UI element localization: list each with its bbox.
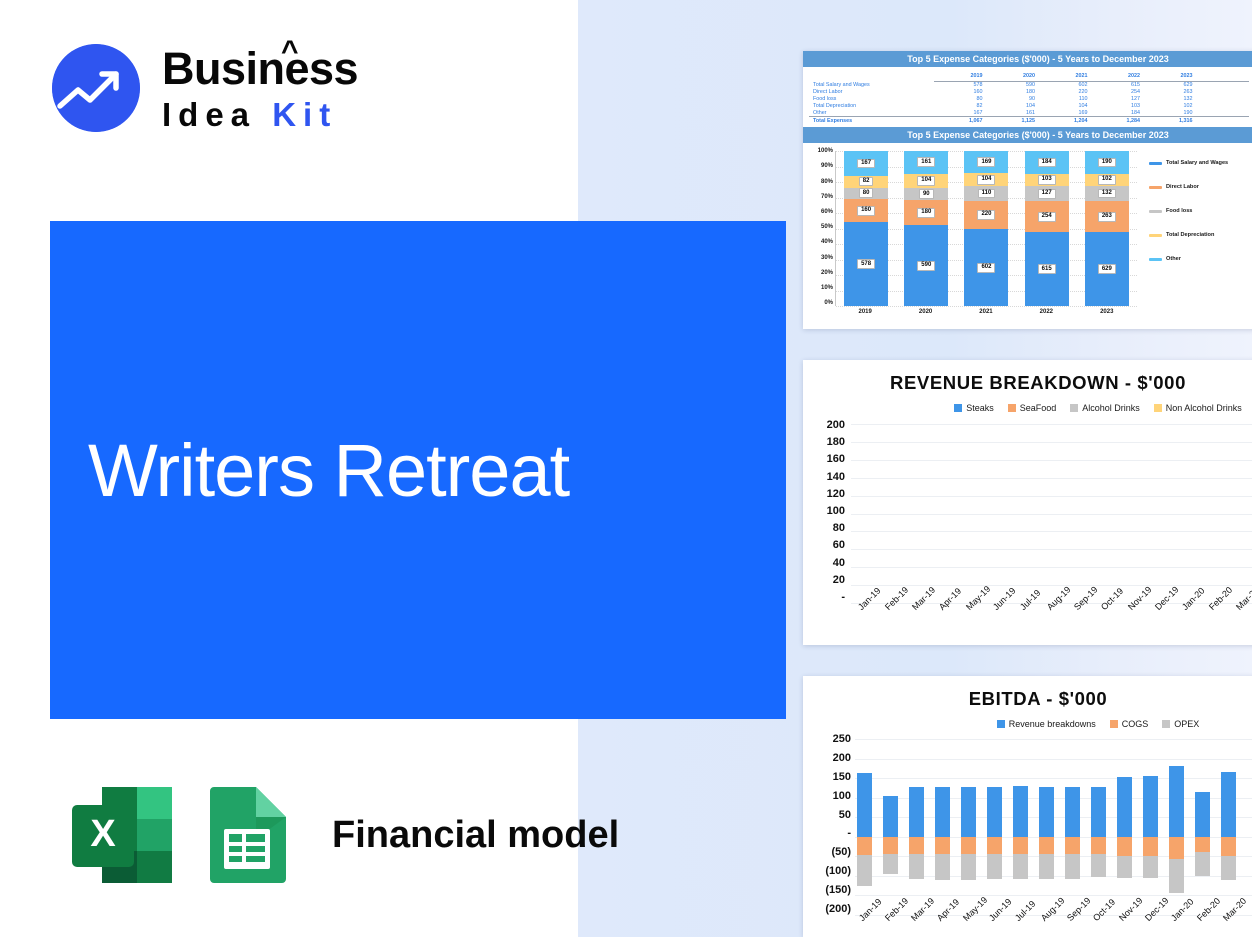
expense-x-tick: 2023 [1085,309,1129,315]
expense-cell: 160 [934,89,987,96]
brand-name-line1: Business ^ [162,46,358,91]
expense-table-row: Food loss8090110127132 [809,96,1249,103]
ebitda-legend-item: OPEX [1162,719,1199,729]
expense-table-header-row: 20192020202120222023 [809,72,1249,82]
expense-table-row: Direct Labor160180220254263 [809,89,1249,96]
expense-legend-label: Total Depreciation [1166,232,1214,238]
expense-bar-segment: 190 [1085,151,1129,173]
expense-cell: 184 [1092,109,1145,116]
expense-row-label: Total Salary and Wages [809,82,934,89]
expense-total-cell: 1,067 [934,116,987,124]
legend-swatch [1070,404,1078,412]
revenue-y-tick: 180 [803,436,845,448]
expense-cell: 103 [1092,102,1145,109]
brand-business-text: Business [162,43,358,94]
expense-cell: 590 [987,82,1040,89]
expense-table-banner: Top 5 Expense Categories ($'000) - 5 Yea… [803,51,1252,67]
ebitda-y-tick: (150) [803,884,851,896]
revenue-y-tick: 40 [803,557,845,569]
expense-y-tick: 80% [807,179,833,185]
expense-x-axis: 20192020202120222023 [835,309,1137,315]
expense-bar-column: 190102132263629 [1085,151,1129,306]
legend-swatch [1149,186,1162,189]
ebitda-legend-item: COGS [1110,719,1149,729]
expense-segment-label: 80 [859,188,874,198]
revenue-y-tick: 20 [803,574,845,586]
revenue-legend-item: Steaks [954,403,994,413]
expense-segment-label: 167 [857,159,875,169]
revenue-y-axis: 20018016014012010080604020- [803,419,845,603]
revenue-y-tick: 80 [803,522,845,534]
expense-segment-label: 132 [1098,189,1116,199]
revenue-legend-item: Non Alcohol Drinks [1154,403,1242,413]
expense-segment-label: 254 [1038,212,1056,222]
legend-swatch [1110,720,1118,728]
expense-bar-segment: 104 [904,174,948,188]
expense-table-body: Total Salary and Wages578590602615629Dir… [809,82,1249,125]
expense-bar-segment: 590 [904,225,948,306]
ebitda-y-tick: 50 [803,809,851,821]
brand-idea-text: Idea [162,96,256,133]
expense-y-tick: 0% [807,300,833,306]
file-format-label: Financial model [332,814,619,857]
expense-col-header: 2022 [1092,72,1145,82]
expense-total-label: Total Expenses [809,116,934,124]
expense-segment-label: 190 [1098,158,1116,168]
legend-swatch [1149,162,1162,165]
expense-stacked-chart: 100%90%80%70%60%50%40%30%20%10%0% 167828… [803,146,1252,326]
expense-cell: 82 [934,102,987,109]
legend-swatch [1008,404,1016,412]
revenue-y-tick: - [803,591,845,603]
ebitda-chart-card: EBITDA - $'000 Revenue breakdownsCOGSOPE… [803,676,1252,937]
expense-bar-segment: 82 [844,176,888,188]
expense-bar-segment: 80 [844,188,888,200]
expense-bar-segment: 132 [1085,186,1129,202]
expense-cell: 167 [934,109,987,116]
expense-bar-segment: 220 [964,201,1008,229]
expense-col-header: 2019 [934,72,987,82]
expense-cell: 602 [1039,82,1092,89]
expense-y-tick: 70% [807,194,833,200]
ebitda-y-tick: (50) [803,846,851,858]
ebitda-y-tick: (100) [803,865,851,877]
expense-segment-label: 590 [917,261,935,271]
revenue-legend: SteaksSeaFoodAlcohol DrinksNon Alcohol D… [803,403,1252,413]
revenue-legend-label: Non Alcohol Drinks [1166,403,1242,413]
ebitda-plot-area [855,739,1252,915]
expense-segment-label: 161 [917,157,935,167]
expense-cell: 615 [1092,82,1145,89]
ebitda-y-axis: 25020015010050-(50)(100)(150)(200) [803,733,851,915]
revenue-bars [851,424,1252,603]
expense-cell: 629 [1144,82,1197,89]
expense-bar-segment: 602 [964,229,1008,306]
expense-segment-label: 104 [977,175,995,185]
expense-cell: 161 [987,109,1040,116]
expense-chart-banner: Top 5 Expense Categories ($'000) - 5 Yea… [803,127,1252,143]
expense-cell: 110 [1039,96,1092,103]
brand-circumflex-accent: ^ [281,37,298,67]
expense-row-label: Other [809,109,934,116]
expense-y-tick: 30% [807,255,833,261]
expense-segment-label: 263 [1098,212,1116,222]
expense-x-tick: 2019 [843,309,887,315]
expense-row-label: Direct Labor [809,89,934,96]
ebitda-chart-title: EBITDA - $'000 [803,688,1252,710]
expense-cell: 127 [1092,96,1145,103]
expense-cell: 169 [1039,109,1092,116]
expense-bar-segment: 578 [844,222,888,306]
expense-cell: 220 [1039,89,1092,96]
ebitda-y-tick: 250 [803,733,851,745]
expense-segment-label: 169 [977,157,995,167]
expense-total-row: Total Expenses1,0671,1251,2041,2841,316 [809,116,1249,124]
revenue-legend-label: Alcohol Drinks [1082,403,1140,413]
expense-legend-item: Total Salary and Wages [1149,160,1252,166]
expense-y-tick: 90% [807,163,833,169]
google-sheets-file-icon [204,783,290,887]
expense-cell: 254 [1092,89,1145,96]
ebitda-trend-line [855,739,1252,937]
expense-col-header: 2020 [987,72,1040,82]
expense-total-cell: 1,316 [1144,116,1197,124]
expense-row-label: Food loss [809,96,934,103]
expense-cell: 80 [934,96,987,103]
expense-legend: Total Salary and WagesDirect LaborFood l… [1149,160,1252,262]
expense-segment-label: 82 [859,177,874,187]
expense-cell [1197,96,1250,103]
expense-segment-label: 602 [977,263,995,273]
expense-bar-segment: 184 [1025,151,1069,173]
expense-cell: 190 [1144,109,1197,116]
revenue-chart-card: REVENUE BREAKDOWN - $'000 SteaksSeaFoodA… [803,360,1252,645]
expense-x-tick: 2022 [1024,309,1068,315]
expense-bar-column: 184103127254615 [1025,151,1069,306]
expense-legend-item: Total Depreciation [1149,232,1252,238]
revenue-legend-item: Alcohol Drinks [1070,403,1140,413]
expense-table: 20192020202120222023 Total Salary and Wa… [803,67,1252,127]
legend-swatch [1149,258,1162,261]
expense-legend-item: Other [1149,256,1252,262]
expense-legend-label: Direct Labor [1166,184,1199,190]
ebitda-y-tick: - [803,827,851,839]
ebitda-legend-item: Revenue breakdowns [997,719,1096,729]
expense-x-tick: 2021 [964,309,1008,315]
page-title: Writers Retreat [88,428,569,513]
brand-logo: Business ^ Idea Kit [52,44,358,132]
ebitda-legend-label: COGS [1122,719,1149,729]
expense-table-row: Total Salary and Wages578590602615629 [809,82,1249,89]
expense-bar-segment: 103 [1025,174,1069,186]
expense-segment-label: 127 [1038,189,1056,199]
expense-bar-segment: 169 [964,151,1008,173]
expense-y-axis: 100%90%80%70%60%50%40%30%20%10%0% [807,148,833,306]
expense-total-cell [1197,116,1250,124]
expense-segment-label: 110 [978,189,996,199]
revenue-plot-wrap: 20018016014012010080604020- Jan-19Feb-19… [803,419,1252,619]
expense-bar-segment: 167 [844,151,888,175]
expense-bar-segment: 263 [1085,201,1129,232]
revenue-legend-label: Steaks [966,403,994,413]
legend-swatch [954,404,962,412]
expense-cell [1197,102,1250,109]
revenue-x-axis: Jan-19Feb-19Mar-19Apr-19May-19Jun-19Jul-… [851,605,1252,615]
ebitda-legend-label: Revenue breakdowns [1009,719,1096,729]
revenue-y-tick: 120 [803,488,845,500]
expense-table-row: Total Depreciation82104104103102 [809,102,1249,109]
expense-bar-column: 169104110220602 [964,151,1008,306]
svg-text:X: X [90,813,116,855]
file-format-row: X Financial model [68,783,619,887]
expense-segment-label: 104 [917,176,935,186]
expense-row-label: Total Depreciation [809,102,934,109]
brand-name-line2: Idea Kit [162,98,358,131]
legend-swatch [1149,234,1162,237]
expense-bar-segment: 127 [1025,186,1069,201]
expense-legend-label: Food loss [1166,208,1192,214]
expense-total-cell: 1,204 [1039,116,1092,124]
revenue-plot-area [851,424,1252,603]
expense-y-tick: 50% [807,224,833,230]
expense-cell: 90 [987,96,1040,103]
expense-y-tick: 10% [807,285,833,291]
legend-swatch [1162,720,1170,728]
expense-total-cell: 1,284 [1092,116,1145,124]
expense-legend-label: Other [1166,256,1181,262]
expense-segment-label: 220 [977,210,995,220]
expense-cell: 180 [987,89,1040,96]
expense-bar-segment: 160 [844,199,888,222]
expense-segment-label: 180 [917,208,935,218]
expense-cell: 104 [1039,102,1092,109]
revenue-legend-label: SeaFood [1020,403,1057,413]
expense-col-header [809,72,934,82]
revenue-y-tick: 160 [803,453,845,465]
expense-segment-label: 103 [1038,175,1056,185]
expense-bar-segment: 629 [1085,232,1129,306]
expense-y-tick: 100% [807,148,833,154]
ebitda-y-tick: (200) [803,903,851,915]
expense-cell [1197,109,1250,116]
excel-file-icon: X [68,783,176,887]
revenue-y-tick: 60 [803,539,845,551]
expense-col-header [1197,72,1250,82]
ebitda-plot-wrap: 25020015010050-(50)(100)(150)(200) Jan-1… [803,733,1252,929]
expense-legend-item: Food loss [1149,208,1252,214]
expense-y-tick: 60% [807,209,833,215]
revenue-legend-item: SeaFood [1008,403,1057,413]
legend-swatch [1154,404,1162,412]
expense-total-cell: 1,125 [987,116,1040,124]
expense-cell [1197,89,1250,96]
expense-chart-card: Top 5 Expense Categories ($'000) - 5 Yea… [803,51,1252,329]
expense-table-row: Other167161169184190 [809,109,1249,116]
expense-cell: 102 [1144,102,1197,109]
expense-bar-segment: 254 [1025,201,1069,232]
expense-plot-area: 1678280160578161104901805901691041102206… [835,151,1137,306]
expense-bar-segment: 110 [964,186,1008,200]
expense-cell [1197,82,1250,89]
expense-col-header: 2023 [1144,72,1197,82]
revenue-y-tick: 100 [803,505,845,517]
expense-bar-column: 16110490180590 [904,151,948,306]
expense-segment-label: 102 [1098,175,1116,185]
expense-y-tick: 20% [807,270,833,276]
legend-swatch [1149,210,1162,213]
expense-segment-label: 615 [1038,264,1056,274]
expense-bar-segment: 102 [1085,174,1129,186]
expense-segment-label: 184 [1038,158,1056,168]
ebitda-y-tick: 150 [803,771,851,783]
growth-arrow-icon [52,44,140,132]
expense-x-tick: 2020 [904,309,948,315]
expense-col-header: 2021 [1039,72,1092,82]
expense-cell: 578 [934,82,987,89]
expense-legend-label: Total Salary and Wages [1166,160,1228,166]
revenue-chart-title: REVENUE BREAKDOWN - $'000 [803,372,1252,394]
expense-bar-segment: 90 [904,188,948,200]
expense-cell: 132 [1144,96,1197,103]
ebitda-legend: Revenue breakdownsCOGSOPEX [803,719,1252,729]
expense-legend-item: Direct Labor [1149,184,1252,190]
gridline [836,306,1137,307]
expense-bar-column: 1678280160578 [844,151,888,306]
ebitda-legend-label: OPEX [1174,719,1199,729]
legend-swatch [997,720,1005,728]
expense-segment-label: 578 [857,259,875,269]
expense-cell: 263 [1144,89,1197,96]
expense-segment-label: 629 [1098,264,1116,274]
ebitda-y-tick: 200 [803,752,851,764]
expense-segment-label: 90 [919,189,934,199]
expense-bar-segment: 104 [964,173,1008,186]
brand-kit-text: Kit [272,96,337,133]
revenue-y-tick: 200 [803,419,845,431]
revenue-y-tick: 140 [803,471,845,483]
ebitda-y-tick: 100 [803,790,851,802]
expense-bar-segment: 161 [904,151,948,173]
expense-cell: 104 [987,102,1040,109]
expense-bar-segment: 615 [1025,232,1069,306]
expense-bar-segment: 180 [904,200,948,225]
expense-y-tick: 40% [807,239,833,245]
expense-segment-label: 160 [857,206,875,216]
